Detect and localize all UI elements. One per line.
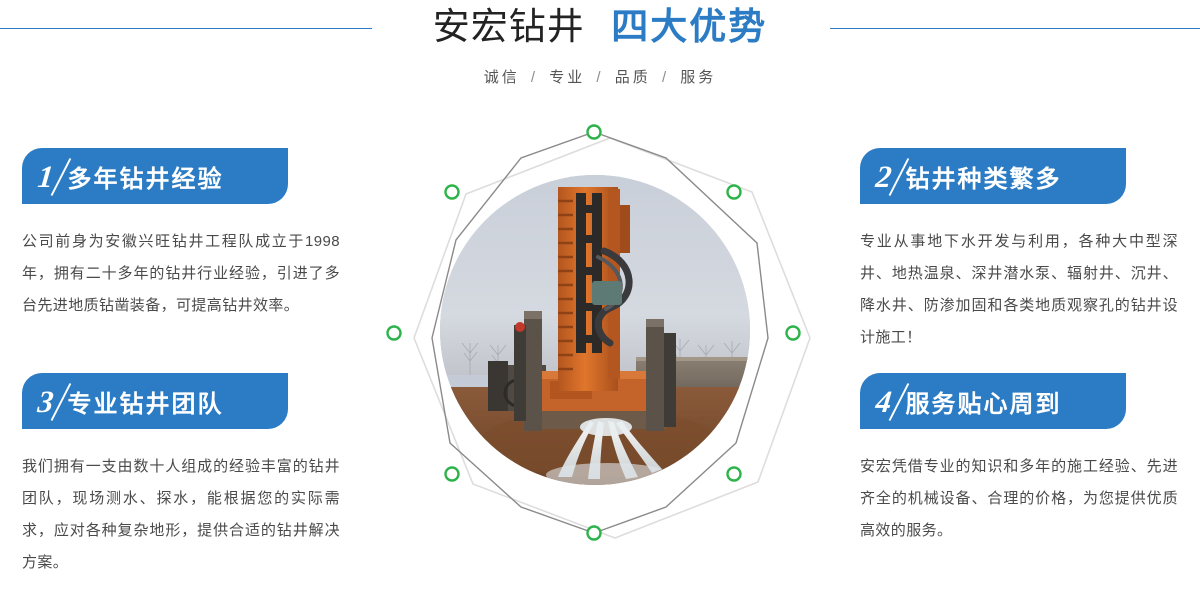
- feature-banner-4: 4 服务贴心周到: [860, 373, 1126, 429]
- subtitle-separator-2: /: [662, 69, 669, 86]
- node-bottom: [588, 527, 601, 540]
- feature-banner-2: 2 钻井种类繁多: [860, 148, 1126, 204]
- feature-title-4: 服务贴心周到: [906, 384, 1062, 419]
- feature-title-2: 钻井种类繁多: [906, 159, 1062, 194]
- feature-body-3: 我们拥有一支由数十人组成的经验丰富的钻井团队，现场测水、探水，能根据您的实际需求…: [22, 451, 340, 579]
- subtitle-item-0: 诚信: [484, 69, 520, 86]
- feature-number-1: 1: [36, 161, 61, 192]
- feature-card-4[interactable]: 4 服务贴心周到 安宏凭借专业的知识和多年的施工经验、先进齐全的机械设备、合理的…: [860, 373, 1200, 547]
- feature-body-1: 公司前身为安徽兴旺钻井工程队成立于1998年，拥有二十多年的钻井行业经验，引进了…: [22, 226, 340, 322]
- feature-card-2[interactable]: 2 钻井种类繁多 专业从事地下水开发与利用，各种大中型深井、地热温泉、深井潜水泵…: [860, 148, 1200, 354]
- feature-banner-1: 1 多年钻井经验: [22, 148, 288, 204]
- node-left: [388, 327, 401, 340]
- feature-card-1[interactable]: 1 多年钻井经验 公司前身为安徽兴旺钻井工程队成立于1998年，拥有二十多年的钻…: [22, 148, 362, 322]
- subtitle-item-1: 专业: [549, 69, 585, 86]
- feature-title-3: 专业钻井团队: [68, 384, 224, 419]
- subtitle-item-2: 品质: [615, 69, 651, 86]
- subtitle-separator-1: /: [596, 69, 603, 86]
- page-title: 安宏钻井 四大优势: [0, 8, 1200, 45]
- subtitle-separator-0: /: [531, 69, 538, 86]
- promo-page: 安宏钻井 四大优势 诚信 / 专业 / 品质 / 服务 1 多年钻井经验 公司前…: [0, 0, 1200, 600]
- feature-body-2: 专业从事地下水开发与利用，各种大中型深井、地热温泉、深井潜水泵、辐射井、沉井、降…: [860, 226, 1178, 354]
- feature-number-3: 3: [36, 386, 61, 417]
- subtitle-item-3: 服务: [680, 69, 716, 86]
- feature-card-3[interactable]: 3 专业钻井团队 我们拥有一支由数十人组成的经验丰富的钻井团队，现场测水、探水，…: [22, 373, 362, 579]
- node-top: [588, 126, 601, 139]
- page-header: 安宏钻井 四大优势 诚信 / 专业 / 品质 / 服务: [0, 0, 1200, 110]
- feature-number-4: 4: [874, 386, 899, 417]
- node-right: [787, 327, 800, 340]
- title-accent: 四大优势: [611, 6, 767, 47]
- drilling-rig-photo: [440, 175, 750, 485]
- title-company: 安宏钻井: [433, 6, 585, 47]
- header-subtitle: 诚信 / 专业 / 品质 / 服务: [0, 66, 1200, 87]
- feature-banner-3: 3 专业钻井团队: [22, 373, 288, 429]
- center-graphic: [370, 110, 830, 580]
- feature-title-1: 多年钻井经验: [68, 159, 224, 194]
- feature-number-2: 2: [874, 161, 899, 192]
- feature-body-4: 安宏凭借专业的知识和多年的施工经验、先进齐全的机械设备、合理的价格，为您提供优质…: [860, 451, 1178, 547]
